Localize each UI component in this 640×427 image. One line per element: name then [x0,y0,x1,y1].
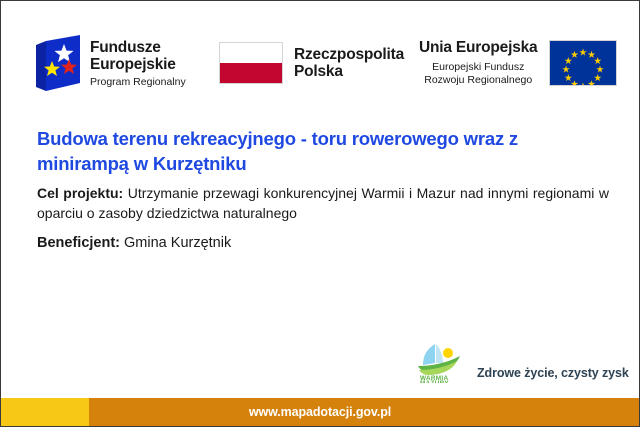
project-goal-text: Utrzymanie przewagi konkurencyjnej Warmi… [37,185,609,221]
rzeczpospolita-polska-wordmark: Rzeczpospolita Polska [294,46,404,81]
flag-stripe-white [220,43,282,63]
unia-europejska-logo: Unia Europejska Europejski Fundusz Rozwo… [419,39,617,87]
footer-bar: www.mapadotacji.gov.pl [1,398,639,426]
rp-line-1: Rzeczpospolita [294,46,404,63]
flag-stripe-red [220,63,282,83]
fe-line-1: Fundusze [90,40,186,57]
fe-line-2: Europejskie [90,57,186,74]
european-union-flag-icon [549,40,617,86]
project-goal-label: Cel projektu: [37,185,123,201]
fundusze-europejskie-logo: Fundusze Europejskie Program Regionalny [36,35,186,93]
fundusze-europejskie-wordmark: Fundusze Europejskie Program Regionalny [90,40,186,88]
beneficiary-label: Beneficjent: [37,235,120,251]
warmia-mazury-slogan: Zdrowe życie, czysty zysk [477,366,629,380]
footer-url[interactable]: www.mapadotacji.gov.pl [1,405,639,419]
beneficiary-value: Gmina Kurzętnik [124,235,231,251]
project-goal-paragraph: Cel projektu: Utrzymanie przewagi konkur… [37,184,609,224]
ue-line-1: Unia Europejska [419,39,537,57]
rzeczpospolita-polska-logo: Rzeczpospolita Polska [219,42,404,84]
logo-strip: Fundusze Europejskie Program Regionalny … [1,31,639,103]
ue-line-3: Rozwoju Regionalnego [419,74,537,87]
unia-europejska-wordmark: Unia Europejska Europejski Fundusz Rozwo… [419,39,537,87]
rp-line-2: Polska [294,63,404,80]
project-information-poster: Fundusze Europejskie Program Regionalny … [0,0,640,427]
warmia-mazury-block: WARMIA MAZURY. Zdrowe życie, czysty zysk [415,341,629,383]
beneficiary-line: Beneficjent: Gmina Kurzętnik [37,235,231,251]
fundusze-europejskie-mark-icon [36,35,80,93]
svg-text:MAZURY.: MAZURY. [420,380,450,383]
poland-flag-icon [219,42,283,84]
page-title: Budowa terenu rekreacyjnego - toru rower… [37,127,607,177]
warmia-mazury-mark-icon: WARMIA MAZURY. [415,341,463,383]
fe-line-3: Program Regionalny [90,77,186,88]
ue-line-2: Europejski Fundusz [419,61,537,74]
